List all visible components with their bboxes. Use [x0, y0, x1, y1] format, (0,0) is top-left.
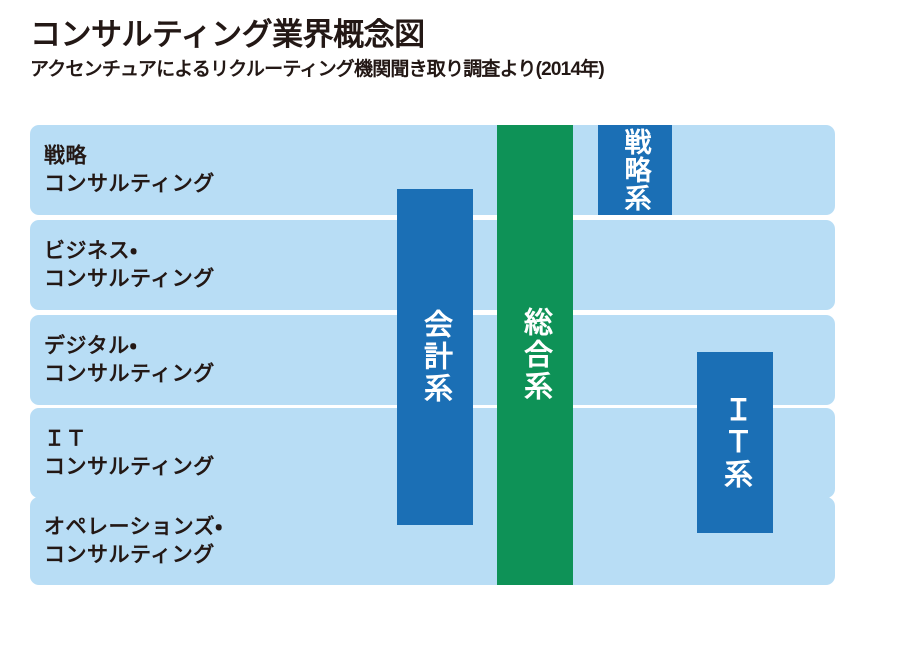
category-bar-it: ＩＴ系: [697, 352, 773, 533]
category-bar-accounting-label: 会計系: [421, 309, 450, 405]
category-bar-general: 総合系: [497, 125, 573, 585]
category-bar-it-label: ＩＴ系: [721, 395, 750, 491]
consulting-industry-diagram: 戦略 コンサルティング ビジネス・ コンサルティング デジタル・ コンサルティン…: [30, 125, 835, 585]
category-bar-strategy: 戦略系: [598, 125, 672, 215]
page-subtitle: アクセンチュアによるリクルーティング機関聞き取り調査より(2014年): [30, 59, 870, 82]
category-bar-strategy-label: 戦略系: [622, 128, 649, 212]
row-label-strategy-consulting: 戦略 コンサルティング: [44, 142, 215, 197]
category-bar-general-label: 総合系: [521, 307, 550, 403]
row-label-it-consulting: ＩＴ コンサルティング: [44, 425, 215, 480]
row-label-operations-consulting: オペレーションズ・ コンサルティング: [44, 513, 223, 568]
row-label-digital-consulting: デジタル・ コンサルティング: [44, 332, 215, 387]
chart-header: コンサルティング業界概念図 アクセンチュアによるリクルーティング機関聞き取り調査…: [30, 18, 870, 82]
row-label-business-consulting: ビジネス・ コンサルティング: [44, 237, 215, 292]
page-title: コンサルティング業界概念図: [30, 18, 870, 53]
category-bar-accounting: 会計系: [397, 189, 473, 525]
